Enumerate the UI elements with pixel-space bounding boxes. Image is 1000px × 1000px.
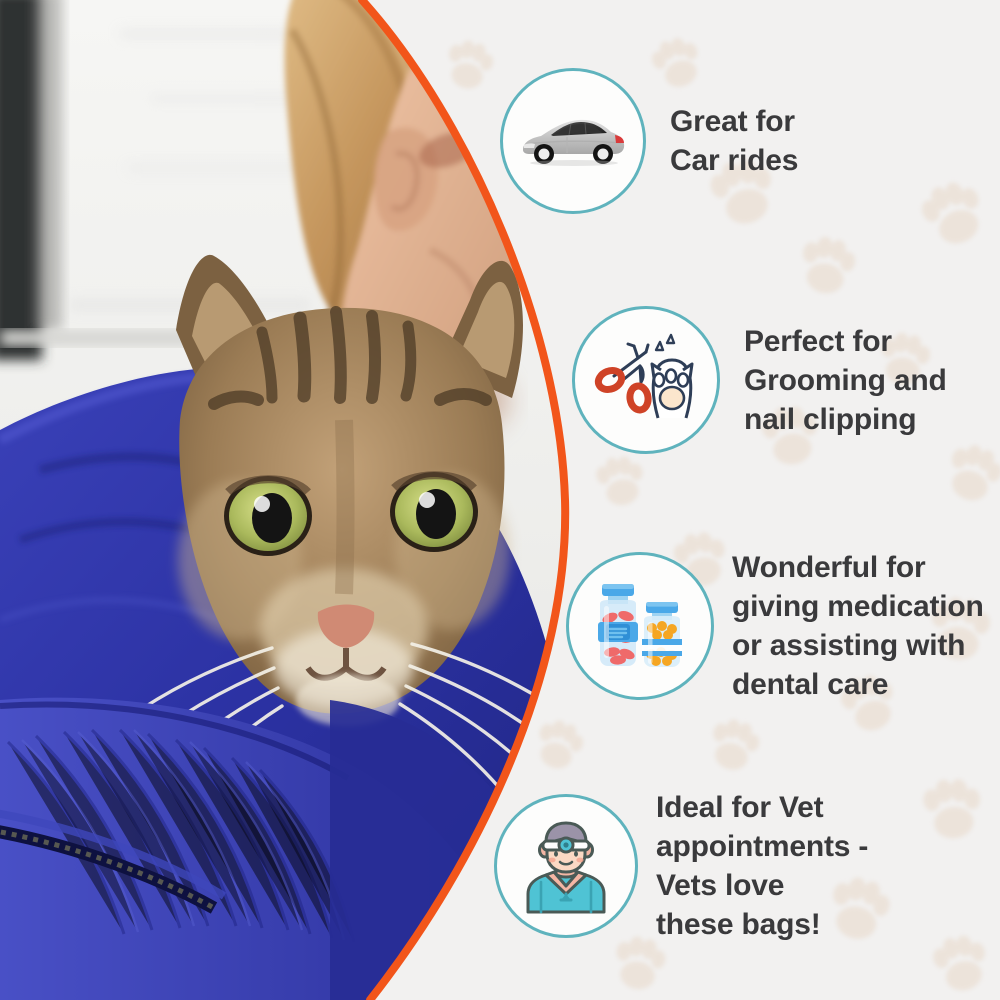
feature-label: Great for Car rides — [670, 102, 798, 180]
car-icon — [517, 106, 629, 176]
feature-list: Great for Car rides — [0, 0, 1000, 1000]
feature-item-car-rides[interactable]: Great for Car rides — [500, 68, 798, 214]
pill-bottles-icon — [586, 578, 694, 674]
feature-item-vet[interactable]: Ideal for Vet appointments - Vets love t… — [494, 788, 868, 944]
feature-icon-circle — [494, 794, 638, 938]
feature-item-medication[interactable]: Wonderful for giving medication or assis… — [566, 548, 984, 704]
feature-icon-circle — [572, 306, 720, 454]
feature-label: Ideal for Vet appointments - Vets love t… — [656, 788, 868, 944]
feature-label: Perfect for Grooming and nail clipping — [744, 322, 947, 439]
product-feature-graphic: Great for Car rides — [0, 0, 1000, 1000]
feature-icon-circle — [566, 552, 714, 700]
nail-clipper-paw-icon — [594, 332, 698, 428]
feature-icon-circle — [500, 68, 646, 214]
veterinarian-icon — [516, 816, 616, 916]
feature-label: Wonderful for giving medication or assis… — [732, 548, 984, 704]
feature-item-grooming[interactable]: Perfect for Grooming and nail clipping — [572, 306, 947, 454]
